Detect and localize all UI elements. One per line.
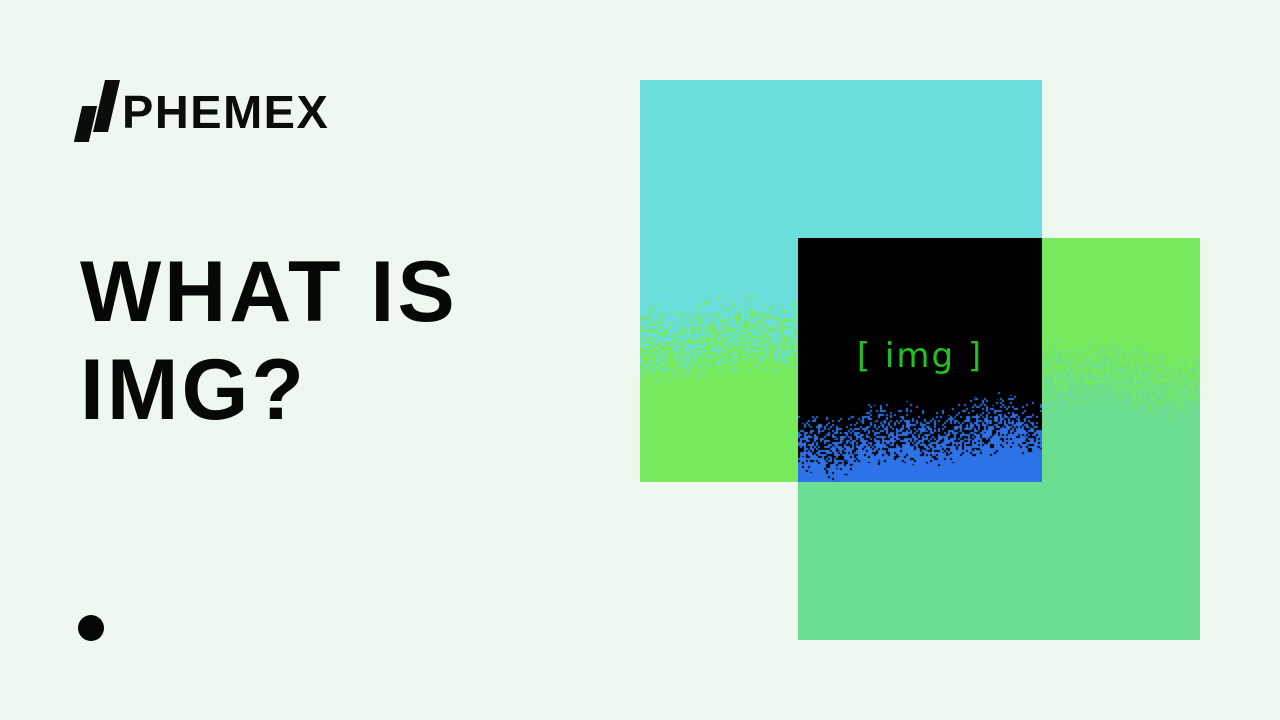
- bullet-dot: [78, 615, 104, 641]
- green-to-mint-square: [798, 238, 1200, 640]
- phemex-mark-icon: [78, 80, 120, 142]
- image-placeholder-label: [ img ]: [798, 238, 1042, 482]
- cyan-gradient-canvas: [640, 80, 1042, 482]
- phemex-wordmark: PHEMEX: [122, 89, 329, 135]
- page-title: WHAT IS IMG?: [80, 243, 600, 439]
- black-to-blue-noise-canvas: [798, 238, 1042, 482]
- black-image-panel: [ img ]: [798, 238, 1042, 482]
- phemex-logo[interactable]: PHEMEX: [78, 80, 325, 142]
- green-gradient-canvas: [798, 238, 1200, 640]
- slide-canvas: [ img ] PHEMEX WHAT IS IMG?: [0, 0, 1280, 720]
- cyan-to-green-square: [640, 80, 1042, 482]
- page-title-line-1: WHAT IS: [80, 243, 600, 341]
- page-title-line-2: IMG?: [80, 341, 600, 439]
